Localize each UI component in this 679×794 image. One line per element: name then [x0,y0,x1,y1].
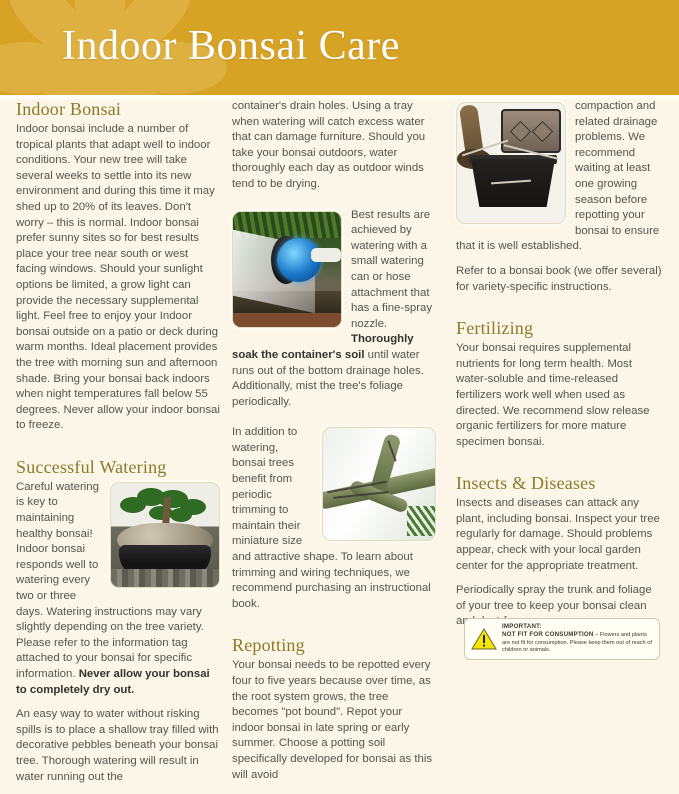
photo-nozzle-handle [311,248,341,262]
column-3: compaction and related drainage problems… [456,99,664,639]
warning-triangle-icon [471,627,497,651]
watering-nozzle-photo [232,211,342,328]
warning-text: IMPORTANT: NOT FIT FOR CONSUMPTION – Flo… [502,623,653,654]
heading-repotting: Repotting [232,635,436,656]
column-1: Indoor Bonsai Indoor bonsai include a nu… [16,99,220,794]
heading-indoor-bonsai: Indoor Bonsai [16,99,220,120]
photo-clay-edge [233,313,341,327]
column-2: container's drain holes. Using a tray wh… [232,99,436,792]
heading-successful-watering: Successful Watering [16,457,220,478]
photo-drain-screen [532,121,553,142]
content-columns: Indoor Bonsai Indoor bonsai include a nu… [0,99,679,679]
spacer [456,304,664,318]
heading-fertilizing: Fertilizing [456,318,664,339]
brochure-page: Indoor Bonsai Care Indoor Bonsai Indoor … [0,0,679,679]
page-title: Indoor Bonsai Care [62,22,400,70]
photo-pebbles [111,569,219,587]
photo-pot [471,159,555,207]
paragraph-indoor-bonsai: Indoor bonsai include a number of tropic… [16,122,220,434]
heading-insects-diseases: Insects & Diseases [456,473,664,494]
wired-branches-photo [322,427,436,541]
spacer [232,621,436,635]
bonsai-pot-photo [110,482,220,588]
warning-line-1: IMPORTANT: [502,623,653,631]
paragraph-tray-watering: An easy way to water without risking spi… [16,707,220,785]
spacer [16,443,220,457]
paragraph-drain-holes: container's drain holes. Using a tray wh… [232,99,436,193]
best-results-lead: Best results are achieved by watering wi… [351,209,432,330]
paragraph-insects: Insects and diseases can attack any plan… [456,496,664,574]
pot-drainage-photo [456,102,566,224]
paragraph-repotting: Your bonsai needs to be repotted every f… [232,658,436,783]
photo-drain-screen [510,121,531,142]
paragraph-refer-book: Refer to a bonsai book (we offer several… [456,264,664,295]
warning-box: IMPORTANT: NOT FIT FOR CONSUMPTION – Flo… [464,618,660,660]
page-header: Indoor Bonsai Care [0,0,679,95]
spacer [456,459,664,473]
warning-line-2-bold: NOT FIT FOR CONSUMPTION [502,631,594,638]
paragraph-fertilizing: Your bonsai requires supplemental nutrie… [456,341,664,450]
photo-needles [407,506,436,536]
